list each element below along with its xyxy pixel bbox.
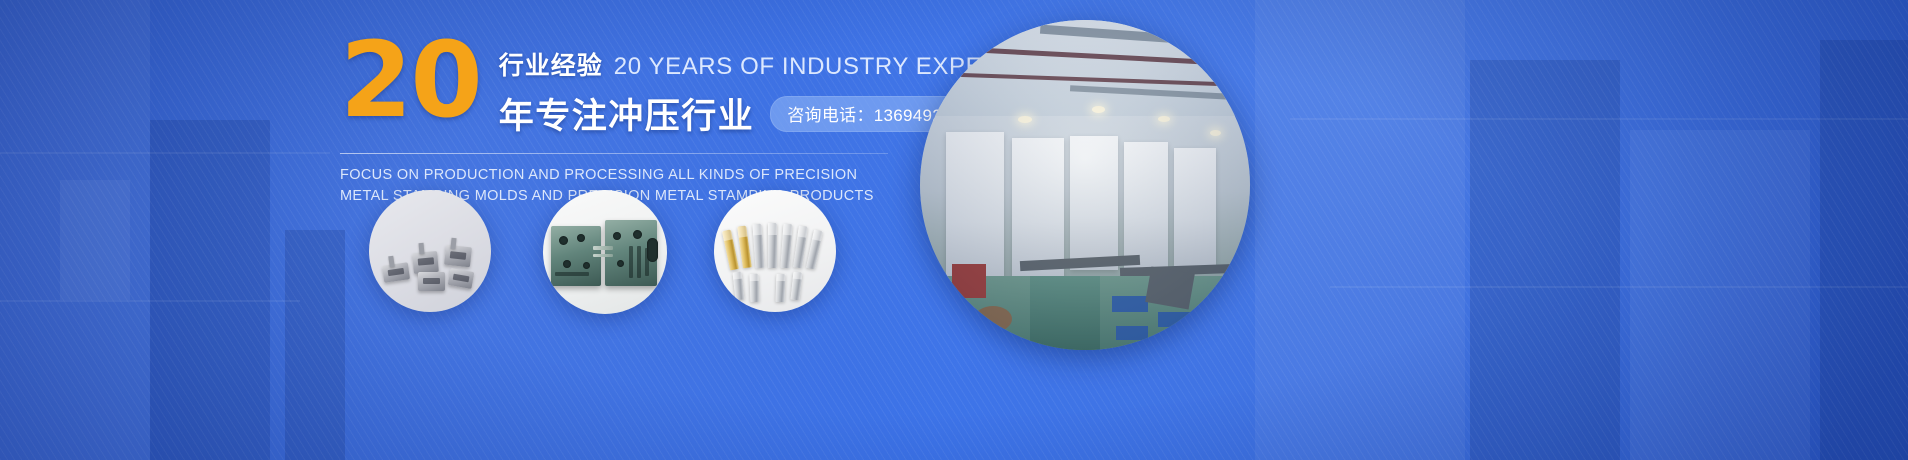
die-hole	[559, 236, 568, 245]
background-ghost-shape	[150, 120, 270, 460]
die-guide-pin	[593, 254, 613, 257]
die-rib	[555, 272, 589, 276]
usb-shell-part	[412, 251, 439, 274]
die-hole	[617, 260, 624, 267]
horizontal-divider	[340, 153, 888, 154]
die-hole	[583, 262, 590, 269]
background-ghost-panel	[60, 180, 130, 300]
die-hole	[613, 232, 621, 240]
terminal-pin	[750, 274, 760, 302]
die-hole	[577, 234, 585, 242]
background-ghost-shape	[285, 230, 345, 460]
factory-photo-shading	[920, 20, 1250, 350]
background-ghost-panel	[1630, 130, 1810, 460]
background-ghost-panel	[0, 0, 150, 460]
die-rib	[637, 246, 641, 278]
die-post	[647, 238, 658, 262]
terminal-pin	[776, 274, 786, 302]
background-ghost-line	[1290, 118, 1908, 120]
product-circle-metal-terminal-pins[interactable]	[714, 190, 836, 312]
die-rib	[629, 246, 633, 278]
usb-shell-part	[382, 262, 410, 282]
background-ghost-line	[1330, 286, 1908, 288]
background-ghost-shape	[1820, 40, 1908, 460]
die-hole	[563, 260, 571, 268]
promo-banner: 20 行业经验 20 YEARS OF INDUSTRY EXPERIENCE …	[0, 0, 1908, 460]
usb-shell-tab	[419, 243, 425, 254]
headline-row: 20 行业经验 20 YEARS OF INDUSTRY EXPERIENCE …	[340, 34, 900, 139]
background-ghost-panel	[1255, 0, 1465, 460]
background-ghost-line	[0, 300, 300, 302]
background-ghost-shape	[1470, 60, 1620, 460]
die-hole	[633, 230, 642, 239]
cn-headline: 年专注冲压行业	[499, 88, 755, 139]
cn-tagline-small: 行业经验	[499, 46, 603, 82]
years-number: 20	[340, 36, 481, 125]
factory-photo-circle[interactable]	[920, 20, 1250, 350]
die-guide-pin	[593, 246, 613, 250]
product-circle-precision-stamping-die[interactable]	[543, 190, 667, 314]
usb-shell-part	[444, 245, 472, 268]
background-ghost-line	[0, 152, 330, 154]
product-circle-usb-connector-shells[interactable]	[369, 190, 491, 312]
terminal-pin	[768, 223, 777, 268]
banner-copy-block: 20 行业经验 20 YEARS OF INDUSTRY EXPERIENCE …	[340, 34, 900, 207]
usb-shell-part	[418, 272, 445, 291]
